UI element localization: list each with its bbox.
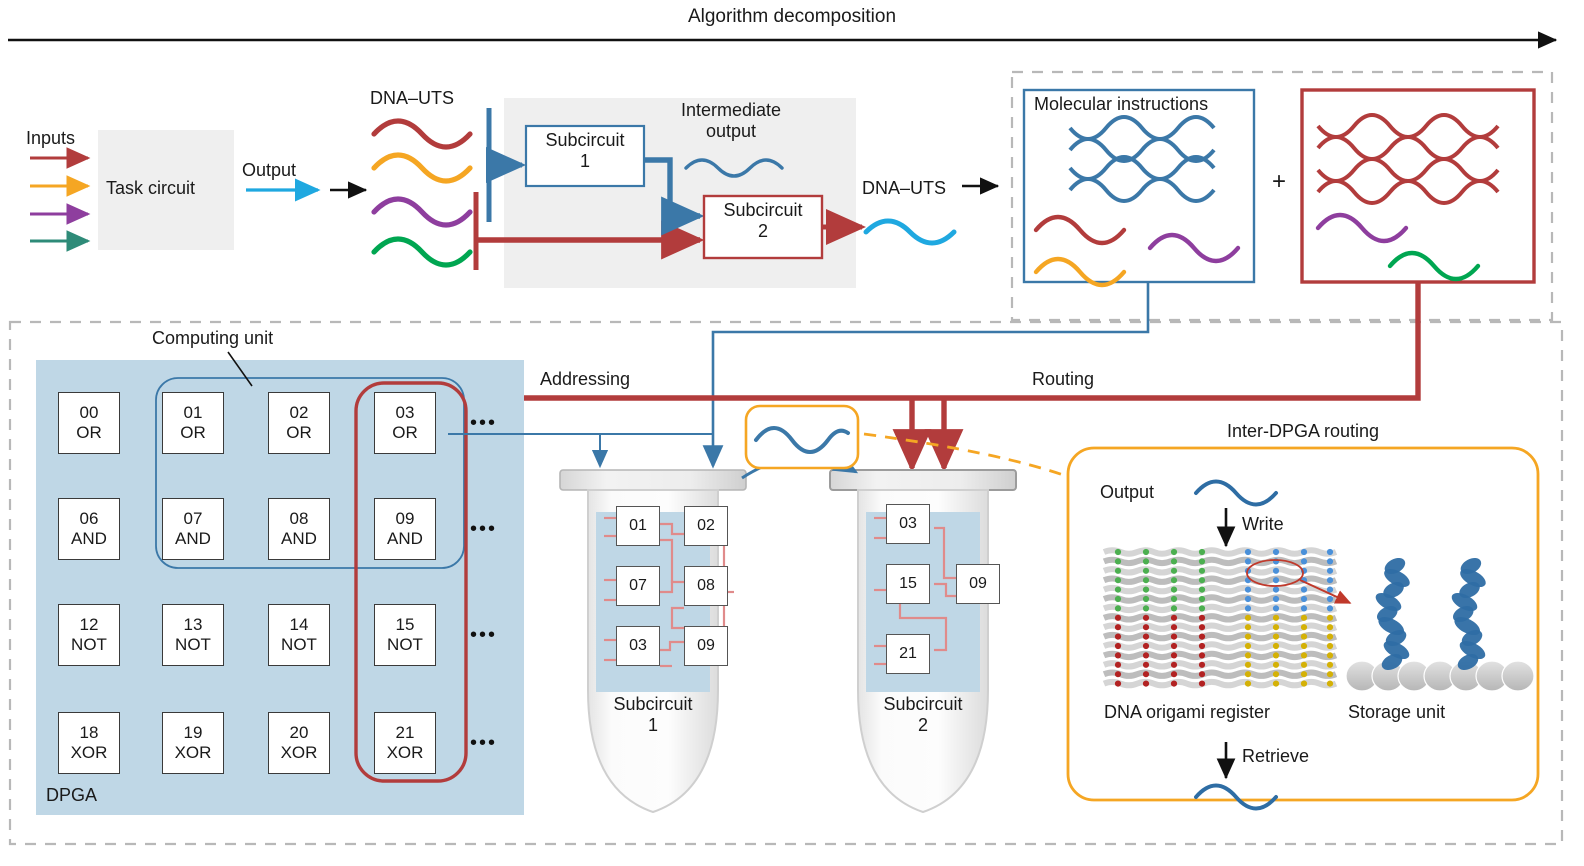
register-dot: [1327, 596, 1333, 602]
register-dot: [1171, 624, 1177, 630]
register-dot: [1199, 549, 1205, 555]
register-dot: [1171, 568, 1177, 574]
inter-dpga-title: Inter-DPGA routing: [1068, 421, 1538, 442]
register-dot: [1301, 596, 1307, 602]
transfer-group: [742, 406, 1072, 478]
register-dot: [1273, 652, 1279, 658]
write-label: Write: [1242, 514, 1284, 535]
dpga-cell-id: 13: [184, 615, 203, 635]
register-dot: [1143, 662, 1149, 668]
subcircuit-2-name: Subcircuit: [723, 200, 802, 220]
dpga-row-ellipsis: •••: [470, 412, 497, 435]
register-dot: [1273, 681, 1279, 687]
dpga-cell-id: 09: [396, 509, 415, 529]
register-dot: [1327, 643, 1333, 649]
tube-1-name: Subcircuit: [613, 694, 692, 714]
dpga-cell-02[interactable]: 02OR: [268, 392, 330, 454]
register-dot: [1115, 558, 1121, 564]
register-dot: [1301, 624, 1307, 630]
dpga-cell-12[interactable]: 12NOT: [58, 604, 120, 666]
register-dot: [1199, 634, 1205, 640]
register-dot: [1199, 568, 1205, 574]
dna-uts-out-wave: [866, 221, 954, 243]
register-dot: [1327, 549, 1333, 555]
dpga-cell-gate: NOT: [281, 635, 317, 655]
register-dot: [1245, 634, 1251, 640]
dna-uts-wave-orange: [374, 155, 470, 181]
register-dot: [1143, 558, 1149, 564]
tube-1-cap: [560, 470, 746, 490]
register-dot: [1327, 624, 1333, 630]
register-dot: [1115, 671, 1121, 677]
tube-gate-label: 08: [697, 577, 715, 595]
register-dot: [1143, 596, 1149, 602]
dpga-cell-id: 00: [80, 403, 99, 423]
register-dot: [1273, 643, 1279, 649]
dpga-cell-07[interactable]: 07AND: [162, 498, 224, 560]
dpga-label: DPGA: [46, 785, 97, 806]
register-dot: [1301, 587, 1307, 593]
dpga-cell-01[interactable]: 01OR: [162, 392, 224, 454]
register-dot: [1245, 587, 1251, 593]
register-dot: [1301, 662, 1307, 668]
register-dot: [1115, 596, 1121, 602]
register-dot: [1273, 671, 1279, 677]
dpga-cell-id: 12: [80, 615, 99, 635]
register-dot: [1115, 681, 1121, 687]
register-dot: [1143, 549, 1149, 555]
tube-gate-15[interactable]: 15: [886, 564, 930, 604]
register-dot: [1327, 662, 1333, 668]
addressing-label: Addressing: [540, 369, 630, 390]
register-dot: [1245, 605, 1251, 611]
routing-label: Routing: [1032, 369, 1094, 390]
register-dot: [1199, 671, 1205, 677]
register-dot: [1143, 652, 1149, 658]
subcircuit-1-label: Subcircuit 1: [526, 130, 644, 171]
tube-2-number: 2: [918, 715, 928, 735]
register-dot: [1171, 634, 1177, 640]
register-dot: [1273, 596, 1279, 602]
register-dot: [1273, 549, 1279, 555]
register-dot: [1301, 549, 1307, 555]
register-dot: [1245, 558, 1251, 564]
register-dot: [1199, 596, 1205, 602]
register-dot: [1301, 652, 1307, 658]
tube-2-name: Subcircuit: [883, 694, 962, 714]
register-dot: [1171, 662, 1177, 668]
register-dot: [1115, 605, 1121, 611]
dpga-row-ellipsis: •••: [470, 732, 497, 755]
dpga-cell-09[interactable]: 09AND: [374, 498, 436, 560]
register-dot: [1245, 596, 1251, 602]
register-dot: [1199, 681, 1205, 687]
dpga-cell-gate: NOT: [387, 635, 423, 655]
dpga-cell-id: 07: [184, 509, 203, 529]
output-label: Output: [242, 160, 296, 181]
tube-2-cap: [830, 470, 1016, 490]
register-dot: [1143, 605, 1149, 611]
register-dot: [1199, 652, 1205, 658]
tube-gate-label: 15: [899, 575, 917, 593]
register-dot: [1301, 558, 1307, 564]
tube-gate-09[interactable]: 09: [684, 626, 728, 666]
computing-unit-label: Computing unit: [152, 328, 273, 349]
register-dot: [1245, 549, 1251, 555]
register-dot: [1245, 671, 1251, 677]
subcircuit-1-number: 1: [580, 151, 590, 171]
register-dot: [1245, 624, 1251, 630]
dpga-cell-gate: XOR: [71, 743, 108, 763]
dpga-cell-20[interactable]: 20XOR: [268, 712, 330, 774]
dna-uts-wave-green: [374, 239, 470, 265]
dpga-cell-id: 06: [80, 509, 99, 529]
register-dot: [1143, 587, 1149, 593]
dpga-cell-id: 02: [290, 403, 309, 423]
dna-uts-wave-red: [374, 121, 470, 147]
tube-gate-label: 03: [899, 515, 917, 533]
register-dot: [1327, 652, 1333, 658]
tube-gate-label: 21: [899, 645, 917, 663]
register-dot: [1143, 671, 1149, 677]
dpga-cell-id: 08: [290, 509, 309, 529]
dpga-cell-gate: AND: [71, 529, 107, 549]
register-dot: [1171, 605, 1177, 611]
register-dot: [1171, 681, 1177, 687]
intermediate-output-label: Intermediate output: [656, 100, 806, 141]
register-dot: [1327, 634, 1333, 640]
dpga-cell-gate: AND: [281, 529, 317, 549]
inter-output-label: Output: [1100, 482, 1154, 503]
register-dot: [1245, 652, 1251, 658]
register-dot: [1171, 643, 1177, 649]
tube-gate-label: 09: [969, 575, 987, 593]
dpga-cell-18[interactable]: 18XOR: [58, 712, 120, 774]
register-dot: [1171, 615, 1177, 621]
dpga-cell-13[interactable]: 13NOT: [162, 604, 224, 666]
register-dot: [1199, 662, 1205, 668]
tube-1-label: Subcircuit 1: [588, 694, 718, 735]
tube-gate-label: 09: [697, 637, 715, 655]
tube-gate-label: 07: [629, 577, 647, 595]
dpga-cell-id: 18: [80, 723, 99, 743]
subcircuit-2-number: 2: [758, 221, 768, 241]
dpga-cell-06[interactable]: 06AND: [58, 498, 120, 560]
register-dot: [1143, 643, 1149, 649]
register-dot: [1199, 577, 1205, 583]
molecular-instructions-box: [1024, 90, 1254, 282]
dpga-cell-00[interactable]: 00OR: [58, 392, 120, 454]
tube-gate-09[interactable]: 09: [956, 564, 1000, 604]
dpga-row-ellipsis: •••: [470, 518, 497, 541]
register-dot: [1199, 624, 1205, 630]
dpga-cell-id: 15: [396, 615, 415, 635]
subcircuit-2-label: Subcircuit 2: [704, 200, 822, 241]
tube-1-number: 1: [648, 715, 658, 735]
register-dot: [1199, 643, 1205, 649]
register-dot: [1301, 634, 1307, 640]
register-dot: [1273, 577, 1279, 583]
register-dot: [1115, 549, 1121, 555]
storage-label: Storage unit: [1348, 702, 1445, 723]
intermediate-output-line1: Intermediate: [681, 100, 781, 120]
page-title: Algorithm decomposition: [0, 6, 1584, 28]
register-dot: [1301, 615, 1307, 621]
register-dot: [1199, 558, 1205, 564]
dpga-cell-15[interactable]: 15NOT: [374, 604, 436, 666]
plus-label: +: [1272, 168, 1286, 196]
dna-uts-wave-group: [374, 121, 470, 265]
dpga-cell-gate: NOT: [175, 635, 211, 655]
tube-gate-label: 02: [697, 517, 715, 535]
transfer-box[interactable]: [746, 406, 858, 468]
dpga-cell-gate: OR: [180, 423, 206, 443]
register-dot: [1273, 605, 1279, 611]
register-dot: [1143, 577, 1149, 583]
register-dot: [1115, 652, 1121, 658]
dna-uts-out-label: DNA–UTS: [862, 178, 946, 199]
register-dot: [1115, 615, 1121, 621]
dpga-cell-08[interactable]: 08AND: [268, 498, 330, 560]
tube-gate-03[interactable]: 03: [616, 626, 660, 666]
register-dot: [1199, 605, 1205, 611]
dpga-cell-gate: XOR: [175, 743, 212, 763]
register-dot: [1115, 577, 1121, 583]
register-dot: [1143, 615, 1149, 621]
dna-uts-wave-purple: [374, 199, 470, 225]
tube-gate-21[interactable]: 21: [886, 634, 930, 674]
register-dot: [1327, 568, 1333, 574]
register-dot: [1171, 558, 1177, 564]
register-dot: [1199, 615, 1205, 621]
inputs-label: Inputs: [26, 128, 75, 149]
subcircuit-1-name: Subcircuit: [545, 130, 624, 150]
register-dot: [1143, 568, 1149, 574]
register-dot: [1301, 681, 1307, 687]
register-dot: [1273, 615, 1279, 621]
register-dot: [1115, 624, 1121, 630]
register-dot: [1273, 568, 1279, 574]
task-circuit-stage: [30, 130, 366, 250]
register-dot: [1273, 624, 1279, 630]
register-dot: [1301, 671, 1307, 677]
storage-bead: [1502, 661, 1534, 691]
register-dot: [1327, 681, 1333, 687]
dpga-cell-id: 01: [184, 403, 203, 423]
dna-origami-register: [1104, 549, 1350, 687]
dpga-cell-gate: XOR: [281, 743, 318, 763]
register-dot: [1327, 605, 1333, 611]
tube-gate-02[interactable]: 02: [684, 506, 728, 546]
tube-gate-label: 03: [629, 637, 647, 655]
dpga-cell-gate: AND: [175, 529, 211, 549]
register-dot: [1245, 662, 1251, 668]
tube-gate-label: 01: [629, 517, 647, 535]
register-dot: [1171, 549, 1177, 555]
dpga-cell-id: 21: [396, 723, 415, 743]
dpga-cell-gate: XOR: [387, 743, 424, 763]
intermediate-output-line2: output: [706, 121, 756, 141]
register-dot: [1199, 587, 1205, 593]
dpga-cell-id: 14: [290, 615, 309, 635]
dpga-cell-gate: OR: [286, 423, 312, 443]
dpga-cell-gate: OR: [76, 423, 102, 443]
register-dot: [1171, 577, 1177, 583]
dpga-row-ellipsis: •••: [470, 624, 497, 647]
register-dot: [1245, 681, 1251, 687]
register-dot: [1115, 643, 1121, 649]
dpga-cell-21[interactable]: 21XOR: [374, 712, 436, 774]
register-dot: [1171, 671, 1177, 677]
register-dot: [1115, 662, 1121, 668]
register-dot: [1143, 624, 1149, 630]
molecular-instructions-label: Molecular instructions: [1034, 94, 1208, 115]
register-dot: [1327, 615, 1333, 621]
tube-2-label: Subcircuit 2: [858, 694, 988, 735]
register-dot: [1171, 596, 1177, 602]
retrieve-label: Retrieve: [1242, 746, 1309, 767]
dpga-cell-14[interactable]: 14NOT: [268, 604, 330, 666]
register-dot: [1171, 587, 1177, 593]
register-dot: [1245, 643, 1251, 649]
register-dot: [1301, 643, 1307, 649]
register-dot: [1171, 652, 1177, 658]
dpga-cell-gate: OR: [392, 423, 418, 443]
dpga-cell-03[interactable]: 03OR: [374, 392, 436, 454]
register-dot: [1273, 634, 1279, 640]
register-dot: [1327, 577, 1333, 583]
register-dot: [1273, 662, 1279, 668]
dpga-cell-gate: AND: [387, 529, 423, 549]
dpga-cell-gate: NOT: [71, 635, 107, 655]
dna-uts-label: DNA–UTS: [370, 88, 454, 109]
dpga-cell-id: 19: [184, 723, 203, 743]
register-dot: [1115, 634, 1121, 640]
register-dot: [1115, 587, 1121, 593]
register-dot: [1327, 671, 1333, 677]
register-label: DNA origami register: [1104, 702, 1270, 723]
register-dot: [1143, 634, 1149, 640]
dpga-cell-19[interactable]: 19XOR: [162, 712, 224, 774]
register-dot: [1115, 568, 1121, 574]
register-dot: [1143, 681, 1149, 687]
register-dot: [1273, 587, 1279, 593]
tube-gate-08[interactable]: 08: [684, 566, 728, 606]
register-dot: [1301, 605, 1307, 611]
task-circuit-label: Task circuit: [106, 178, 195, 199]
tube-gate-01[interactable]: 01: [616, 506, 660, 546]
register-dot: [1245, 615, 1251, 621]
tube-gate-07[interactable]: 07: [616, 566, 660, 606]
dpga-cell-id: 03: [396, 403, 415, 423]
register-dot: [1327, 558, 1333, 564]
tube-gate-03[interactable]: 03: [886, 504, 930, 544]
dpga-cell-id: 20: [290, 723, 309, 743]
